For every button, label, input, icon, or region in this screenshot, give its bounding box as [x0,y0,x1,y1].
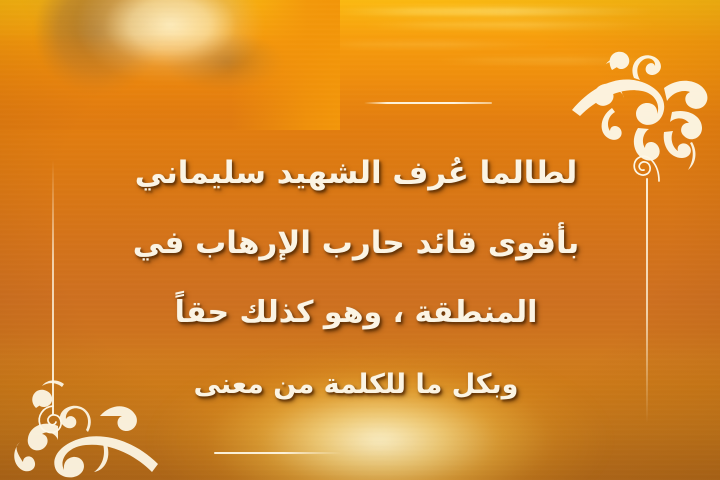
bottom-horizontal-rule [214,452,342,454]
right-vertical-rule [646,178,648,423]
spiral-ornament-icon [36,404,70,438]
left-vertical-rule [52,160,54,415]
top-horizontal-rule [364,102,492,104]
quote-line-3: المنطقة ، وهو كذلك حقاً [70,278,642,348]
quote-text-block: لطالما عُرف الشهيد سليماني بأقوى قائد حا… [70,138,642,422]
quote-line-4: وبكل ما للكلمة من معنى [70,348,642,422]
quote-poster: لطالما عُرف الشهيد سليماني بأقوى قائد حا… [0,0,720,480]
quote-line-1: لطالما عُرف الشهيد سليماني [70,138,642,208]
quote-line-2: بأقوى قائد حارب الإرهاب في [70,208,642,278]
